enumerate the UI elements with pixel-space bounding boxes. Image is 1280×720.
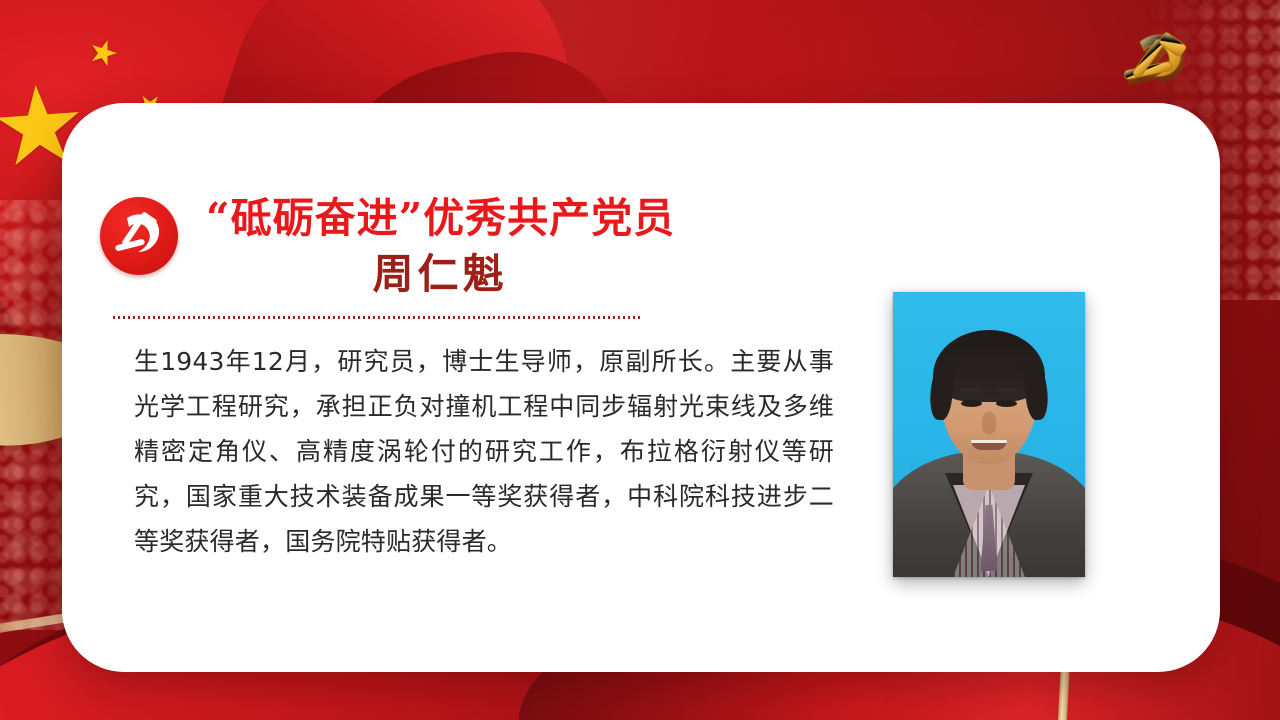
photo-mouth <box>971 440 1007 450</box>
photo-eye-left <box>961 400 982 407</box>
photo-nose <box>982 412 996 434</box>
party-emblem-gold-icon <box>1110 26 1206 100</box>
photo-eye-right <box>996 400 1017 407</box>
biography-paragraph: 生1943年12月，研究员，博士生导师，原副所长。主要从事光学工程研究，承担正负… <box>134 339 834 564</box>
dotted-divider <box>113 316 640 319</box>
party-badge-icon <box>100 197 178 275</box>
page-title-primary: “砥砺奋进”优秀共产党员 <box>202 191 1082 245</box>
content-card: “砥砺奋进”优秀共产党员 周仁魁 生1943年12月，研究员，博士生导师，原副所… <box>62 103 1220 672</box>
page-title-name: 周仁魁 <box>202 247 678 301</box>
title-block: “砥砺奋进”优秀共产党员 周仁魁 <box>202 191 1082 301</box>
slide-canvas: ★ ★ ★ ★ ★ <box>0 0 1280 720</box>
portrait-photo: 证件照 - 周仁魁 <box>893 292 1085 577</box>
